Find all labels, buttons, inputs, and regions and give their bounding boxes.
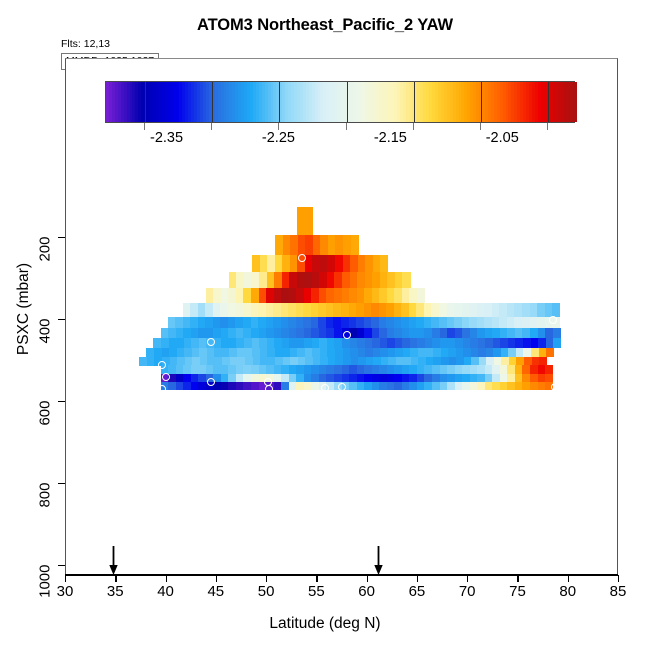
- y-axis-tick-label: 200: [37, 237, 54, 283]
- colorbar-band: [573, 82, 577, 122]
- sample-marker: [298, 254, 306, 262]
- y-axis-tick: [58, 483, 65, 484]
- sample-marker: [343, 331, 351, 339]
- sample-marker: [465, 414, 473, 422]
- heatmap-cell: [351, 235, 359, 255]
- x-axis-tick: [467, 575, 468, 582]
- heatmap-cell: [553, 338, 561, 348]
- colorbar-tick: [144, 123, 145, 130]
- y-axis-tick: [58, 565, 65, 566]
- y-axis-tick-label: 400: [37, 319, 54, 365]
- sample-marker: [265, 385, 273, 393]
- x-axis-tick-label: 85: [588, 583, 648, 600]
- sample-marker: [207, 378, 215, 386]
- x-axis-tick: [417, 575, 418, 582]
- heatmap-cell: [380, 255, 388, 273]
- colorbar-divider: [279, 82, 280, 122]
- y-axis-tick: [58, 319, 65, 320]
- y-axis-tick-label: 800: [37, 483, 54, 529]
- colorbar-tick-label: -2.35: [132, 130, 202, 146]
- colorbar-divider: [212, 82, 213, 122]
- x-axis-tick: [568, 575, 569, 582]
- heatmap-cell: [417, 288, 425, 304]
- sample-marker: [160, 394, 168, 402]
- colorbar-tick-label: -2.25: [243, 130, 313, 146]
- flights-annotation: Flts: 12,13: [61, 38, 110, 50]
- sample-marker: [551, 383, 559, 391]
- sample-marker: [162, 373, 170, 381]
- y-axis-tick: [58, 237, 65, 238]
- sample-marker: [312, 413, 320, 421]
- colorbar-tick: [413, 123, 414, 130]
- colorbar-tick: [480, 123, 481, 130]
- x-axis-tick: [65, 575, 66, 582]
- colorbar-divider: [548, 82, 549, 122]
- y-axis-tick-label: 600: [37, 401, 54, 447]
- heatmap-cell: [546, 348, 554, 358]
- x-axis-tick: [367, 575, 368, 582]
- y-axis-tick-label: 1000: [37, 565, 54, 611]
- page-title: ATOM3 Northeast_Pacific_2 YAW: [0, 16, 650, 35]
- colorbar-tick: [211, 123, 212, 130]
- x-axis-tick: [316, 575, 317, 582]
- sample-marker: [338, 383, 346, 391]
- colorbar-divider: [481, 82, 482, 122]
- colorbar-divider: [145, 82, 146, 122]
- x-axis-line: [65, 574, 618, 576]
- colorbar-tick-label: -2.05: [467, 130, 537, 146]
- y-axis-label: PSXC (mbar): [15, 199, 33, 419]
- colorbar-gradient: [105, 81, 575, 123]
- sample-marker: [549, 316, 557, 324]
- heatmap-cell: [305, 207, 313, 236]
- x-axis-label: Latitude (deg N): [0, 615, 650, 633]
- sample-marker: [158, 361, 166, 369]
- sample-marker: [550, 415, 558, 423]
- x-axis-tick: [266, 575, 267, 582]
- colorbar[interactable]: -2.35-2.25-2.15-2.05: [105, 81, 575, 123]
- sample-marker: [321, 384, 329, 392]
- latitude-marker-arrow: [108, 546, 119, 580]
- x-axis-tick: [166, 575, 167, 582]
- colorbar-divider: [347, 82, 348, 122]
- x-axis-tick: [216, 575, 217, 582]
- colorbar-tick: [278, 123, 279, 130]
- y-axis-tick: [58, 401, 65, 402]
- x-axis-tick: [618, 575, 619, 582]
- x-axis-tick: [517, 575, 518, 582]
- colorbar-tick: [346, 123, 347, 130]
- colorbar-divider: [414, 82, 415, 122]
- heatmap-cell: [402, 272, 410, 289]
- sample-marker: [158, 385, 166, 393]
- colorbar-tick-label: -2.15: [355, 130, 425, 146]
- colorbar-tick: [547, 123, 548, 130]
- latitude-marker-arrow: [373, 546, 384, 580]
